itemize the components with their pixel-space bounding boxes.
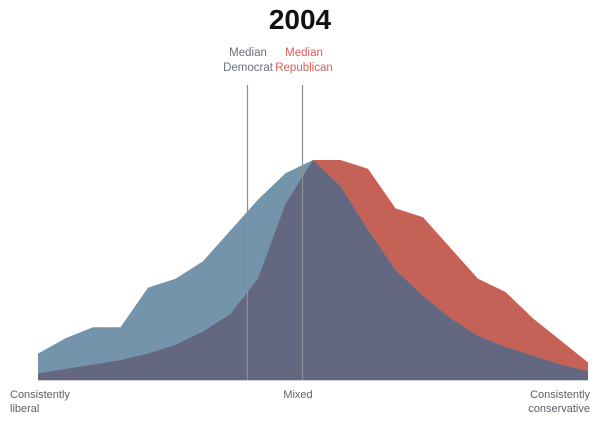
axis-label-mixed: Mixed (253, 388, 343, 402)
chart-figure: 2004 Median Democrat Median Republican C… (0, 0, 600, 424)
axis-label-conservative-line1: Consistently (450, 388, 590, 402)
axis-label-liberal-line1: Consistently (10, 388, 140, 402)
axis-label-liberal-line2: liberal (10, 402, 140, 416)
axis-label-liberal: Consistently liberal (10, 388, 140, 416)
axis-label-conservative-line2: conservative (450, 402, 590, 416)
distribution-plot (0, 0, 600, 424)
axis-label-conservative: Consistently conservative (450, 388, 590, 416)
